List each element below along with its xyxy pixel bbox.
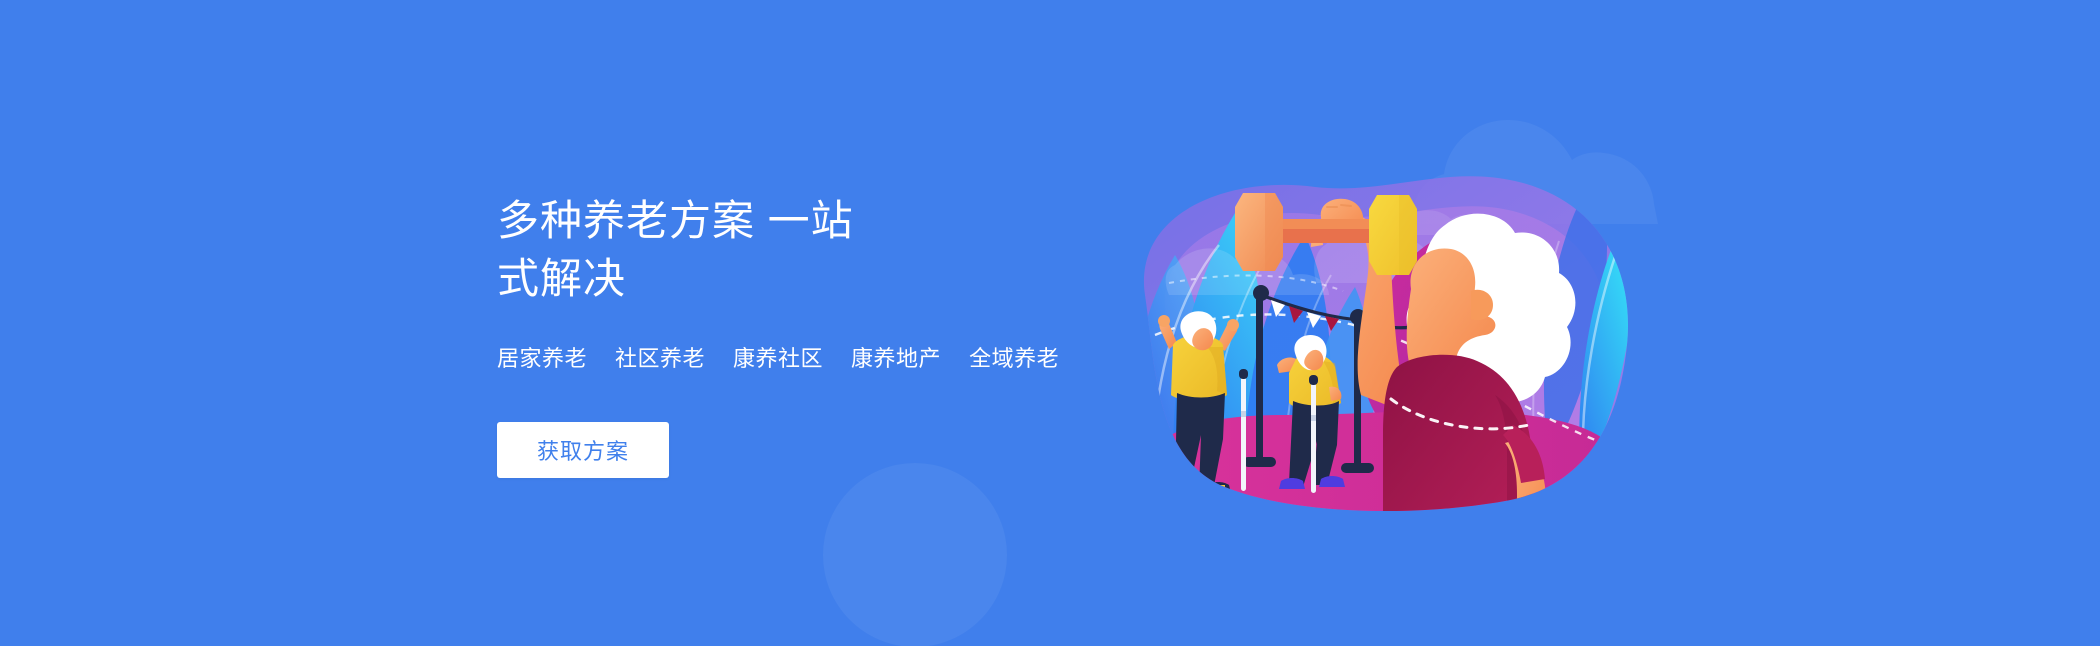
decorative-circle — [823, 463, 1007, 646]
tag-item-4[interactable]: 全域养老 — [969, 344, 1059, 374]
tag-item-3[interactable]: 康养地产 — [851, 344, 941, 374]
tag-list: 居家养老 社区养老 康养社区 康养地产 全域养老 — [497, 344, 927, 374]
get-plan-button[interactable]: 获取方案 — [497, 422, 669, 478]
hero-copy: 多种养老方案 一站 式解决 居家养老 社区养老 康养社区 康养地产 全域养老 获… — [497, 192, 927, 478]
senior-fitness-illustration — [1115, 95, 1645, 545]
tag-item-2[interactable]: 康养社区 — [733, 344, 823, 374]
hero-banner: 多种养老方案 一站 式解决 居家养老 社区养老 康养社区 康养地产 全域养老 获… — [0, 0, 2100, 646]
page-title: 多种养老方案 一站 式解决 — [497, 192, 927, 308]
tag-item-0[interactable]: 居家养老 — [497, 344, 587, 374]
tag-item-1[interactable]: 社区养老 — [615, 344, 705, 374]
